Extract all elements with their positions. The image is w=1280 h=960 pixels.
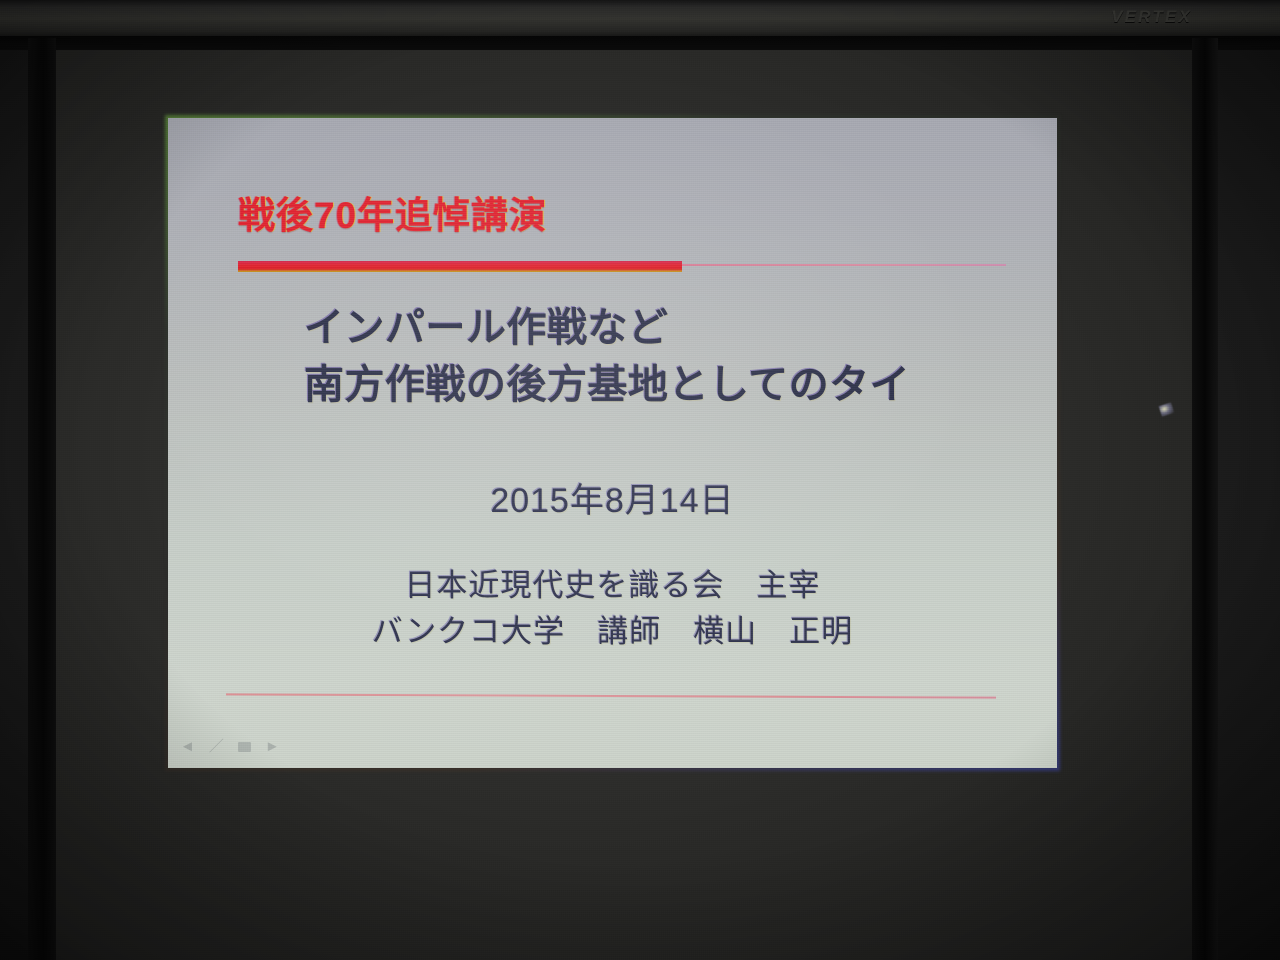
presenter-name: バンクコ大学 講師 横山 正明 <box>168 609 1057 655</box>
pen-slash-icon[interactable]: ／ <box>209 739 224 754</box>
slide-heading-line-1: インパール作戦など <box>304 300 910 357</box>
slide-heading-line-2: 南方作戦の後方基地としてのタイ <box>304 357 910 414</box>
bottom-divider-line <box>226 693 996 698</box>
slide-menu-icon[interactable] <box>238 742 251 752</box>
housing-shadow-gap <box>0 36 1280 50</box>
projection-screen-roller-housing: VERTEX <box>0 0 1280 39</box>
slide-presenter-block: 日本近現代史を識る会 主宰 バンクコ大学 講師 横山 正明 <box>168 563 1057 655</box>
presentation-slide: 戦後70年追悼講演 インパール作戦など 南方作戦の後方基地としてのタイ 2015… <box>168 118 1057 768</box>
cursor-light-speck <box>1159 402 1175 416</box>
projected-slide-region: 戦後70年追悼講演 インパール作戦など 南方作戦の後方基地としてのタイ 2015… <box>168 118 1057 768</box>
title-divider <box>238 261 1006 272</box>
vertex-brand-label: VERTEX <box>1111 7 1192 27</box>
slide-heading: インパール作戦など 南方作戦の後方基地としてのタイ <box>304 300 910 414</box>
screen-rail-left <box>28 38 56 960</box>
projected-slide-scene: VERTEX 戦後70年追悼講演 インパール作戦など 南方作戦の後方基地としての… <box>0 0 1280 960</box>
title-divider-thin-line <box>682 264 1006 266</box>
title-divider-thick-bar <box>238 261 682 272</box>
presenter-affiliation: 日本近現代史を識る会 主宰 <box>168 563 1057 609</box>
slide-date: 2015年8月14日 <box>168 473 1057 522</box>
screen-rail-right <box>1192 38 1218 960</box>
previous-slide-icon[interactable]: ◄ <box>180 739 195 754</box>
next-slide-icon[interactable]: ► <box>265 739 280 754</box>
slide-title: 戦後70年追悼講演 <box>238 185 547 239</box>
slideshow-navigation-controls[interactable]: ◄ ／ ► <box>180 739 280 754</box>
